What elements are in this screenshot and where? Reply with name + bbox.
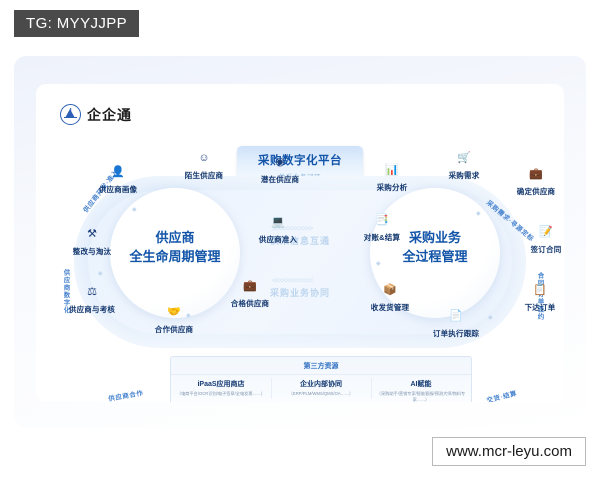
analytics-icon: 📊 xyxy=(356,164,428,177)
node-confirm-supplier[interactable]: 💼 确定供应商 xyxy=(500,168,564,199)
node-procurement-analysis[interactable]: 📊 采购分析 xyxy=(356,164,428,195)
assessment-icon: ⚖ xyxy=(56,286,128,299)
shopping-cart-icon: 🛒 xyxy=(428,152,500,165)
node-procurement-demand[interactable]: 🛒 采购需求 xyxy=(428,152,500,183)
node-supplier-assessment[interactable]: ⚖ 供应商与考核 xyxy=(56,286,128,317)
resources-columns: iPaaS应用商店 （电商平台/OCR识别/电子签章/全电发票……） 企业内部协… xyxy=(171,375,471,402)
node-supplier-portrait[interactable]: 👤 供应商画像 xyxy=(82,166,154,197)
brand-logo: 企企通 xyxy=(60,104,132,125)
node-cooperative-supplier[interactable]: 🤝 合作供应商 xyxy=(138,306,210,337)
resources-header: 第三方资源 xyxy=(171,357,471,375)
node-order-tracking[interactable]: 📄 订单执行跟踪 xyxy=(420,310,492,341)
decorative-dot: ◆ xyxy=(476,210,481,217)
third-party-resources-panel: 第三方资源 iPaaS应用商店 （电商平台/OCR识别/电子签章/全电发票……）… xyxy=(170,356,472,402)
decorative-dot: ◆ xyxy=(376,260,381,267)
node-qualified-supplier[interactable]: 💼 合格供应商 xyxy=(214,280,286,311)
brand-name: 企企通 xyxy=(87,105,132,125)
supplier-hub-label: 供应商 全生命周期管理 xyxy=(110,229,240,267)
node-sign-contract[interactable]: 📝 签订合同 xyxy=(510,226,564,257)
resource-column-internal[interactable]: 企业内部协同 （ERP/PLM/WMS/QMS/OA……） xyxy=(271,375,371,402)
node-reconcile-settle[interactable]: 📑 对账&结算 xyxy=(346,214,418,245)
tracking-doc-icon: 📄 xyxy=(420,310,492,323)
arc-label-bottom-left: 供应商合作 xyxy=(107,387,144,402)
resource-column-ai[interactable]: AI赋能 （采购助手/营销专家/智能客服/预测大师/物料专家……） xyxy=(371,375,471,402)
briefcase-icon: 💼 xyxy=(214,280,286,293)
handshake-icon: 🤝 xyxy=(138,306,210,319)
node-unknown-supplier[interactable]: ☺ 陌生供应商 xyxy=(168,152,240,183)
node-place-order[interactable]: 📋 下达订单 xyxy=(504,284,564,315)
node-supplier-access[interactable]: 💻 供应商准入 xyxy=(242,216,314,247)
decorative-dot: ◆ xyxy=(98,270,103,277)
package-box-icon: 📦 xyxy=(354,284,426,297)
smiley-face-icon: ☺ xyxy=(168,152,240,165)
node-rectify-eliminate[interactable]: ⚒ 整改与淘汰 xyxy=(56,228,128,259)
decorative-dot: ◆ xyxy=(488,314,493,321)
resource-column-ipaas[interactable]: iPaaS应用商店 （电商平台/OCR识别/电子签章/全电发票……） xyxy=(171,375,271,402)
user-portrait-icon: 👤 xyxy=(82,166,154,179)
id-card-icon: 💼 xyxy=(500,168,564,181)
arc-label-bottom-right: 交货·结算 xyxy=(485,387,518,402)
company-logo-icon xyxy=(60,104,81,125)
target-person-icon: ◉ xyxy=(244,156,316,169)
slide-card: 企企通 采购数字化平台 供采业务闭环 供应商 全生命周期管理 采购业务 全过程管… xyxy=(14,56,586,428)
node-potential-supplier[interactable]: ◉ 潜在供应商 xyxy=(244,156,316,187)
decorative-dot: ◆ xyxy=(186,312,191,319)
monitor-icon: 💻 xyxy=(242,216,314,229)
ledger-icon: 📑 xyxy=(346,214,418,227)
rectify-icon: ⚒ xyxy=(56,228,128,241)
telegram-watermark: TG: MYYJJPP xyxy=(14,10,139,37)
contract-sign-icon: 📝 xyxy=(510,226,564,239)
url-watermark: www.mcr-leyu.com xyxy=(432,437,586,466)
node-delivery-management[interactable]: 📦 收发货管理 xyxy=(354,284,426,315)
order-doc-icon: 📋 xyxy=(504,284,564,297)
decorative-dot: ◆ xyxy=(132,206,137,213)
slide-inner: 企企通 采购数字化平台 供采业务闭环 供应商 全生命周期管理 采购业务 全过程管… xyxy=(36,84,564,402)
